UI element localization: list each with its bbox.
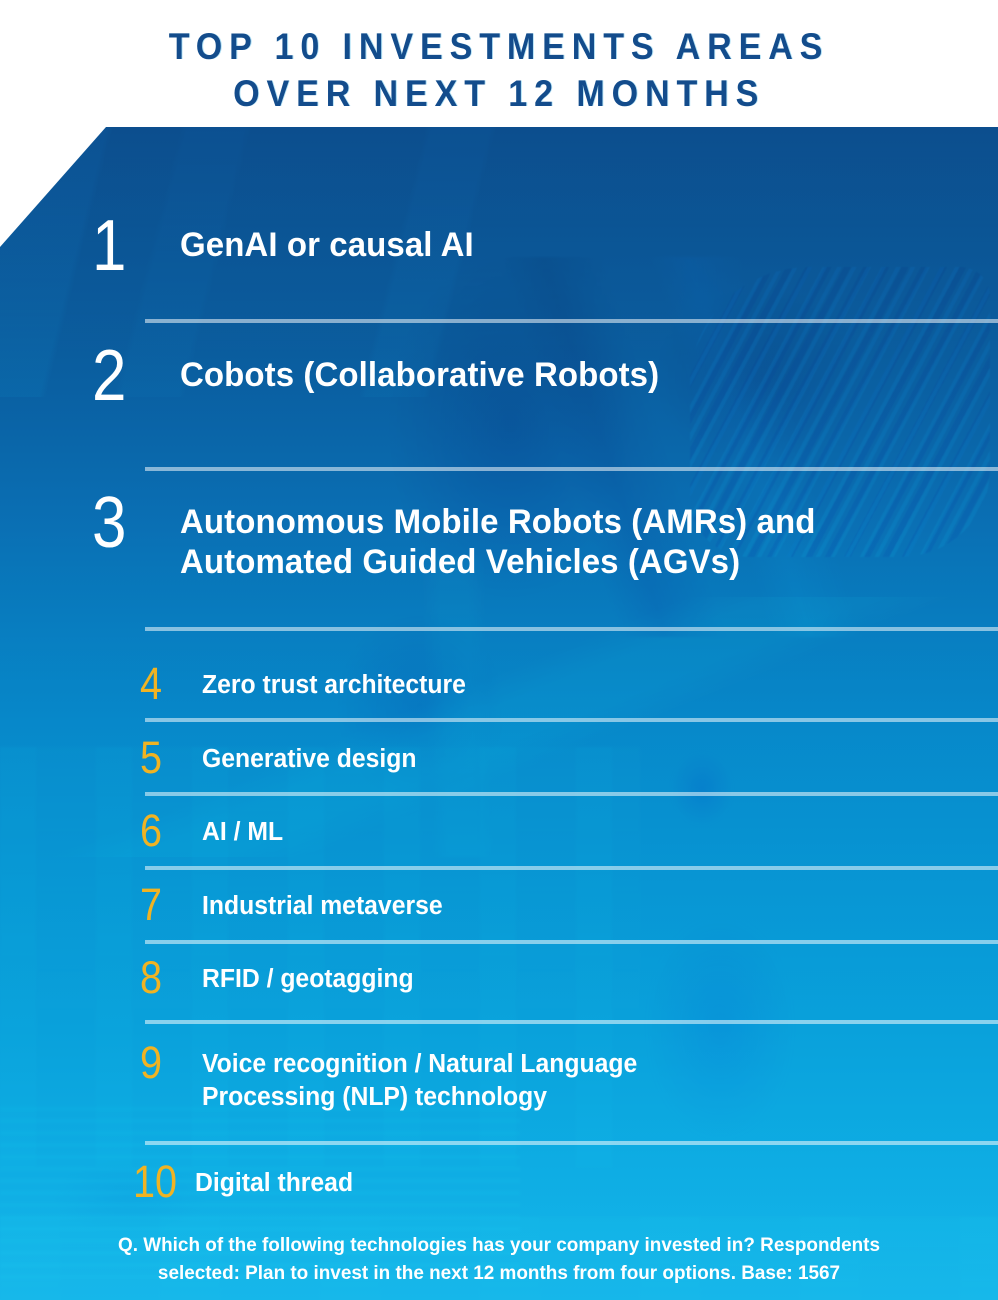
rank-label-5: Generative design	[202, 735, 416, 776]
title-line-2: OVER NEXT 12 MONTHS	[233, 71, 765, 118]
rank-label-8: RFID / geotagging	[202, 955, 414, 996]
rank-label-10: Digital thread	[195, 1159, 353, 1200]
footnote-prefix: Q.	[118, 1234, 138, 1256]
rank-number-8: 8	[140, 955, 195, 1000]
list-item-10: 10 Digital thread	[0, 1159, 998, 1204]
rank-number-5: 5	[140, 735, 195, 780]
divider-7	[145, 940, 998, 944]
list-item-9: 9 Voice recognition / Natural Language P…	[0, 1040, 998, 1114]
rank-number-9: 9	[140, 1040, 195, 1085]
divider-1	[145, 319, 998, 323]
list-item-3: 3 Autonomous Mobile Robots (AMRs) and Au…	[0, 489, 998, 582]
rank-label-6: AI / ML	[202, 808, 283, 849]
rank-label-3-line-2: Automated Guided Vehicles (AGVs)	[180, 542, 815, 582]
page-title: TOP 10 INVESTMENTS AREAS OVER NEXT 12 MO…	[0, 0, 998, 127]
rank-number-10: 10	[133, 1159, 188, 1204]
rank-label-9: Voice recognition / Natural Language Pro…	[202, 1040, 637, 1114]
rank-number-3: 3	[92, 489, 168, 558]
rank-number-6: 6	[140, 808, 195, 853]
rank-label-7: Industrial metaverse	[202, 882, 443, 923]
list-item-8: 8 RFID / geotagging	[0, 955, 998, 1000]
rank-label-9-line-2: Processing (NLP) technology	[202, 1081, 637, 1114]
divider-5	[145, 792, 998, 796]
footnote-text: Which of the following technologies has …	[143, 1234, 880, 1284]
divider-3	[145, 627, 998, 631]
divider-2	[145, 467, 998, 471]
rank-label-1: GenAI or causal AI	[180, 212, 474, 265]
rank-label-9-line-1: Voice recognition / Natural Language	[202, 1048, 637, 1081]
list-item-6: 6 AI / ML	[0, 808, 998, 853]
list-item-2: 2 Cobots (Collaborative Robots)	[0, 342, 998, 411]
divider-8	[145, 1020, 998, 1024]
infographic-page: TOP 10 INVESTMENTS AREAS OVER NEXT 12 MO…	[0, 0, 998, 1300]
ranking-list: 1 GenAI or causal AI 2 Cobots (Collabora…	[0, 127, 998, 1300]
rank-label-4: Zero trust architecture	[202, 661, 466, 702]
rank-number-2: 2	[92, 342, 168, 411]
ranking-panel: 1 GenAI or causal AI 2 Cobots (Collabora…	[0, 127, 998, 1300]
rank-label-3-line-1: Autonomous Mobile Robots (AMRs) and	[180, 502, 815, 542]
list-item-4: 4 Zero trust architecture	[0, 661, 998, 706]
list-item-5: 5 Generative design	[0, 735, 998, 780]
rank-number-7: 7	[140, 882, 195, 927]
rank-number-1: 1	[92, 212, 168, 281]
rank-label-3: Autonomous Mobile Robots (AMRs) and Auto…	[180, 489, 815, 582]
rank-label-2: Cobots (Collaborative Robots)	[180, 342, 659, 395]
footnote: Q. Which of the following technologies h…	[15, 1232, 983, 1287]
title-line-1: TOP 10 INVESTMENTS AREAS	[169, 24, 830, 71]
list-item-7: 7 Industrial metaverse	[0, 882, 998, 927]
divider-6	[145, 866, 998, 870]
divider-4	[145, 718, 998, 722]
divider-9	[145, 1141, 998, 1145]
list-item-1: 1 GenAI or causal AI	[0, 212, 998, 281]
rank-number-4: 4	[140, 661, 195, 706]
